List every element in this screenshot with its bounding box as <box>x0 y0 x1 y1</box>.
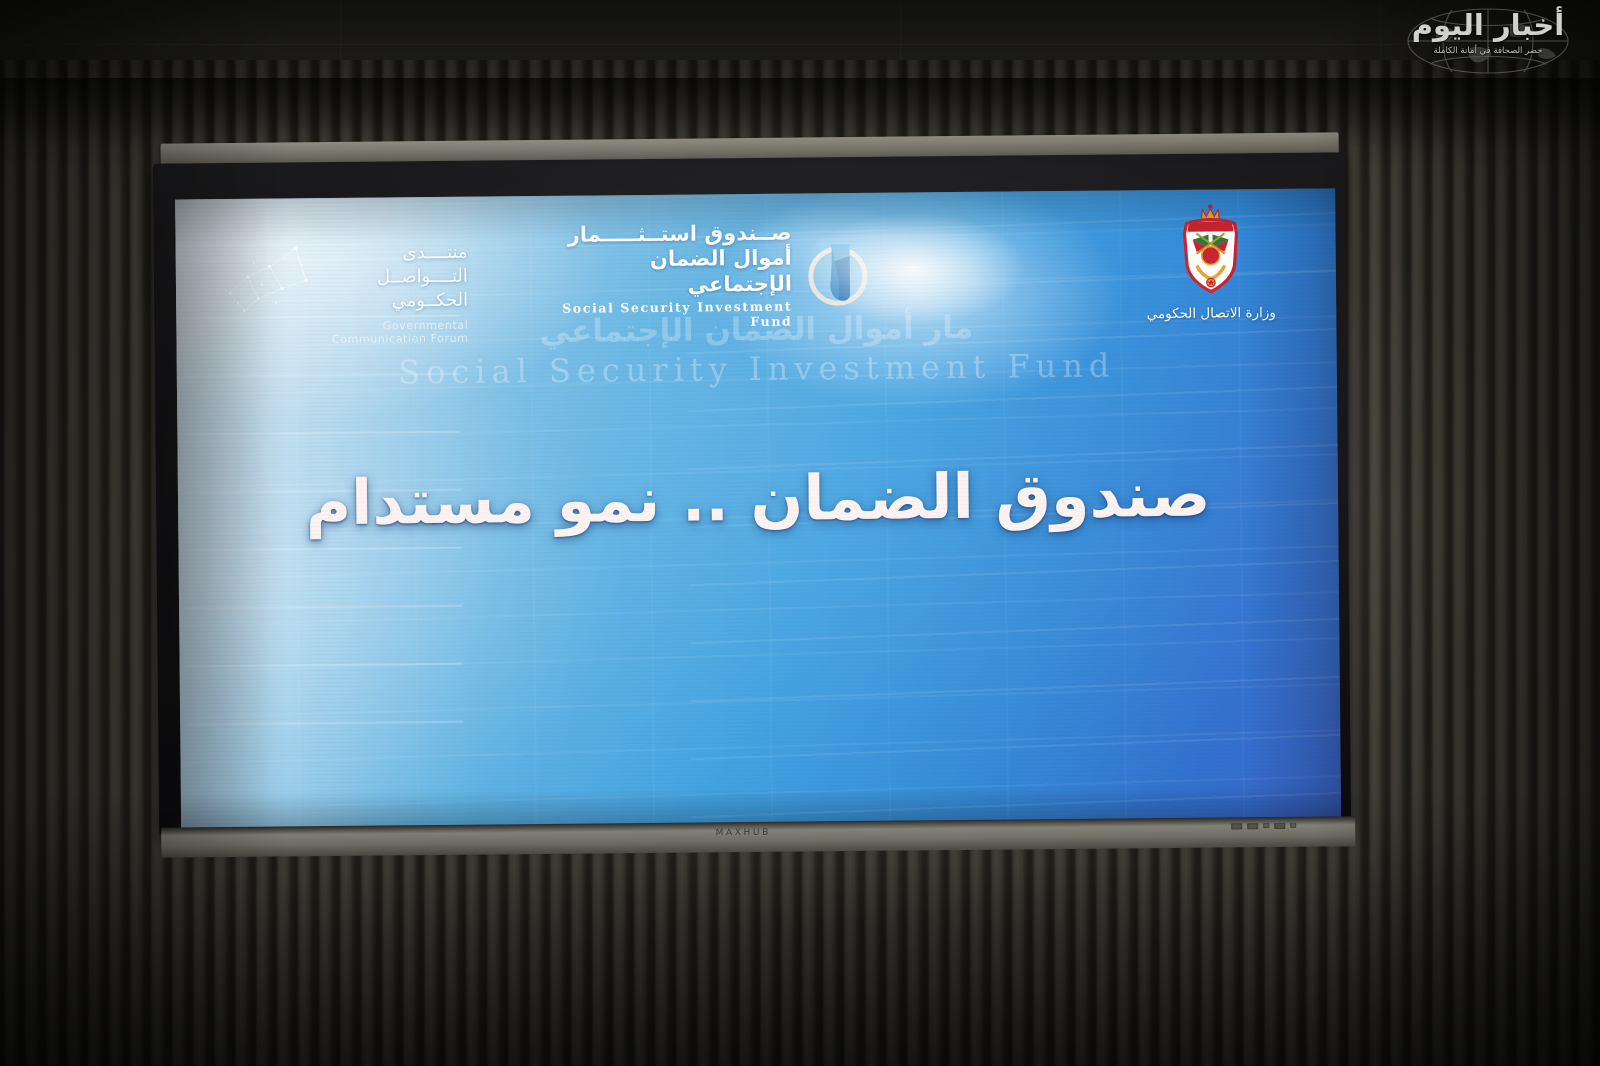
wall-mounted-display[interactable]: مار أموال الضمان الإجتماعي Social Securi… <box>147 132 1354 859</box>
screenshot-root: مار أموال الضمان الإجتماعي Social Securi… <box>0 0 1600 1066</box>
forum-line-2: التــــواصــل <box>314 264 468 289</box>
port-usb[interactable] <box>1231 823 1242 829</box>
dot-network-icon <box>218 240 315 327</box>
ssif-english-label: Social Security Investment Fund <box>540 299 792 331</box>
port-usb-2[interactable] <box>1247 823 1258 829</box>
presentation-slide: مار أموال الضمان الإجتماعي Social Securi… <box>175 188 1341 839</box>
display-port-row[interactable] <box>1231 819 1341 831</box>
slide-title: صندوق الضمان .. نمو مستدام <box>178 456 1339 540</box>
logo-social-security-investment-fund: صــندوق استــثـــــمار أموال الضمان الإج… <box>539 219 870 332</box>
ssif-logo-text: صــندوق استــثـــــمار أموال الضمان الإج… <box>539 220 792 331</box>
logo-ministry-of-government-communication: وزارة الاتصال الحكومي <box>1120 203 1301 335</box>
forum-logo-text: منتــــدى التــــواصــل الحكــومي Govern… <box>314 239 469 347</box>
port-hdmi[interactable] <box>1274 822 1285 828</box>
news-agency-watermark: أخبار اليوم حصر الصحافة في أمانة الكاملة <box>1390 4 1586 78</box>
jordan-coat-of-arms-icon <box>1162 203 1259 304</box>
forum-english-label: Governmental Communication Forum <box>314 319 468 346</box>
ssif-ring-mark-icon <box>798 236 871 313</box>
watermark-title: أخبار اليوم <box>1390 4 1586 42</box>
forum-line-1: منتــــدى <box>314 241 468 266</box>
slide-logo-row: منتــــدى التــــواصــل الحكــومي Govern… <box>175 188 1336 349</box>
power-led <box>1290 823 1296 828</box>
watermark-subtitle: حصر الصحافة في أمانة الكاملة <box>1390 46 1586 56</box>
ministry-label: وزارة الاتصال الحكومي <box>1121 305 1301 323</box>
ssif-line-2: أموال الضمان الإجتماعي <box>540 246 792 300</box>
forum-line-3: الحكــومي <box>314 288 468 313</box>
display-bezel: مار أموال الضمان الإجتماعي Social Securi… <box>153 152 1351 835</box>
port-indicator[interactable] <box>1263 823 1269 828</box>
logo-government-communication-forum: منتــــدى التــــواصــل الحكــومي Govern… <box>218 239 469 349</box>
ssif-line-1: صــندوق استــثـــــمار <box>539 220 791 248</box>
display-brand-label: MAXHUB <box>673 827 813 842</box>
